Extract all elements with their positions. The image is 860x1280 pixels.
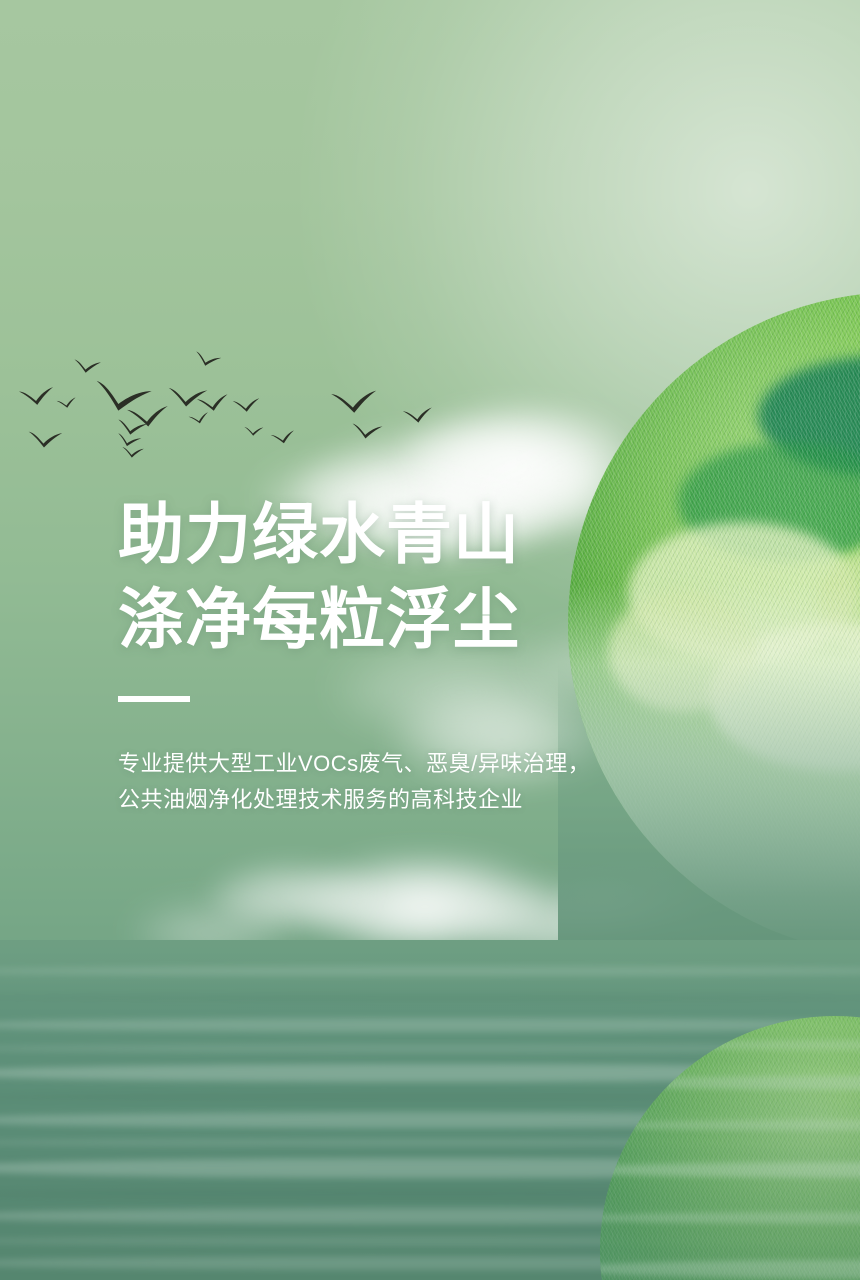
cloud-12 [556, 880, 706, 940]
water-ripple-1 [0, 966, 860, 976]
reflection-ripple-4 [600, 1162, 860, 1178]
subtitle-block: 专业提供大型工业VOCs废气、恶臭/异味治理， 公共油烟净化处理技术服务的高科技… [118, 746, 678, 818]
reflection-ripple-3 [600, 1120, 860, 1131]
reflection-ripple-6 [600, 1260, 860, 1278]
copy-block: 助力绿水青山 涤净每粒浮尘 专业提供大型工业VOCs废气、恶臭/异味治理， 公共… [118, 492, 678, 818]
subtitle-line-2: 公共油烟净化处理技术服务的高科技企业 [118, 782, 678, 818]
reflection-ripple-2 [600, 1076, 860, 1090]
subtitle-line-1: 专业提供大型工业VOCs废气、恶臭/异味治理， [118, 746, 678, 782]
title-divider [118, 696, 190, 702]
water-ripple-2 [0, 994, 860, 1002]
poster-banner: 助力绿水青山 涤净每粒浮尘 专业提供大型工业VOCs废气、恶臭/异味治理， 公共… [0, 0, 860, 1280]
cloud-8 [300, 856, 550, 948]
headline-line-2: 涤净每粒浮尘 [118, 577, 678, 662]
cloud-2 [404, 404, 634, 504]
reflection-ripple-1 [600, 1040, 860, 1050]
cloud-9 [208, 862, 378, 928]
headline-line-1: 助力绿水青山 [118, 492, 678, 577]
reflection-ripple-5 [600, 1212, 860, 1224]
globe-reflection [600, 1016, 860, 1280]
reflection-ripples [600, 1016, 860, 1280]
